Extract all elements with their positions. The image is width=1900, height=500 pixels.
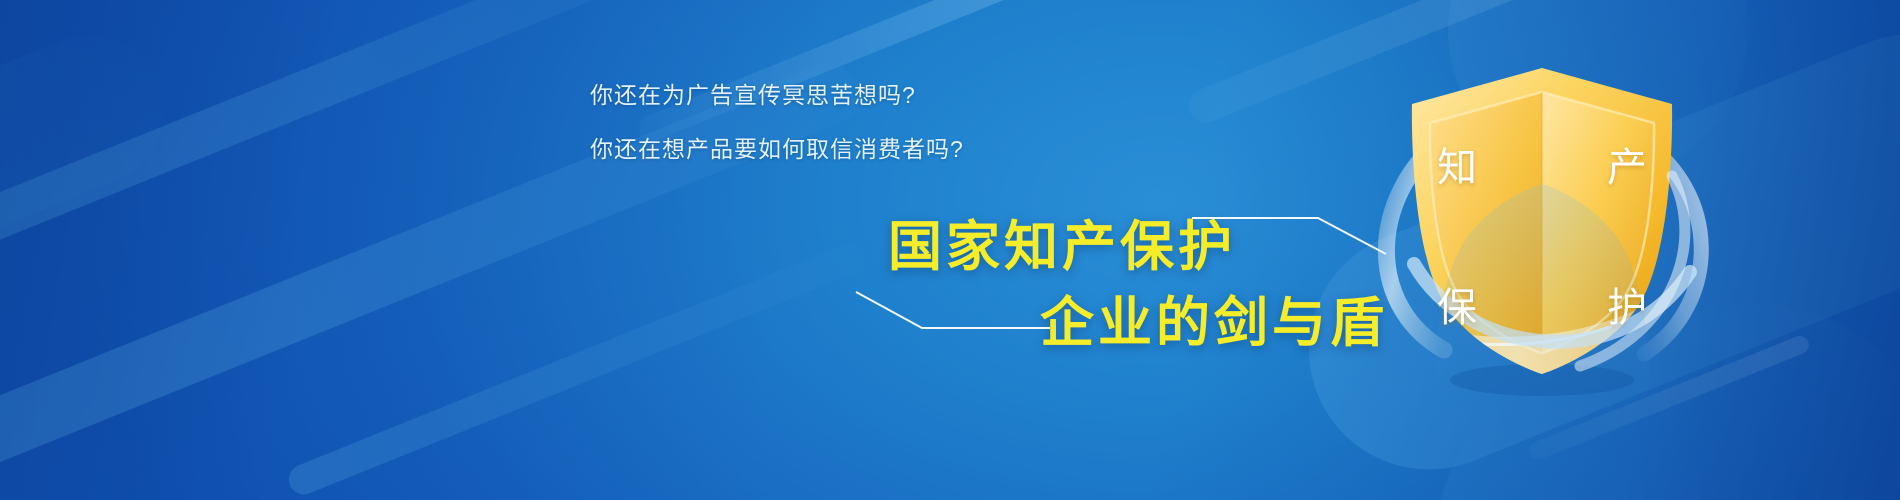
connector-line-bottom-icon (852, 286, 1052, 346)
subheading-line-1: 你还在为广告宣传冥思苦想吗? (590, 76, 916, 110)
shield-emblem: 知 产 保 护 (1372, 58, 1712, 478)
shield-icon (1372, 58, 1712, 478)
headline-line-1: 国家知产保护 (888, 202, 1236, 281)
subheading-line-2: 你还在想产品要如何取信消费者吗? (590, 130, 964, 164)
headline-line-2: 企业的剑与盾 (1040, 278, 1388, 357)
promo-banner: 你还在为广告宣传冥思苦想吗? 你还在想产品要如何取信消费者吗? 国家知产保护 企… (0, 0, 1900, 500)
copy-block: 你还在为广告宣传冥思苦想吗? 你还在想产品要如何取信消费者吗? 国家知产保护 企… (0, 0, 1420, 500)
